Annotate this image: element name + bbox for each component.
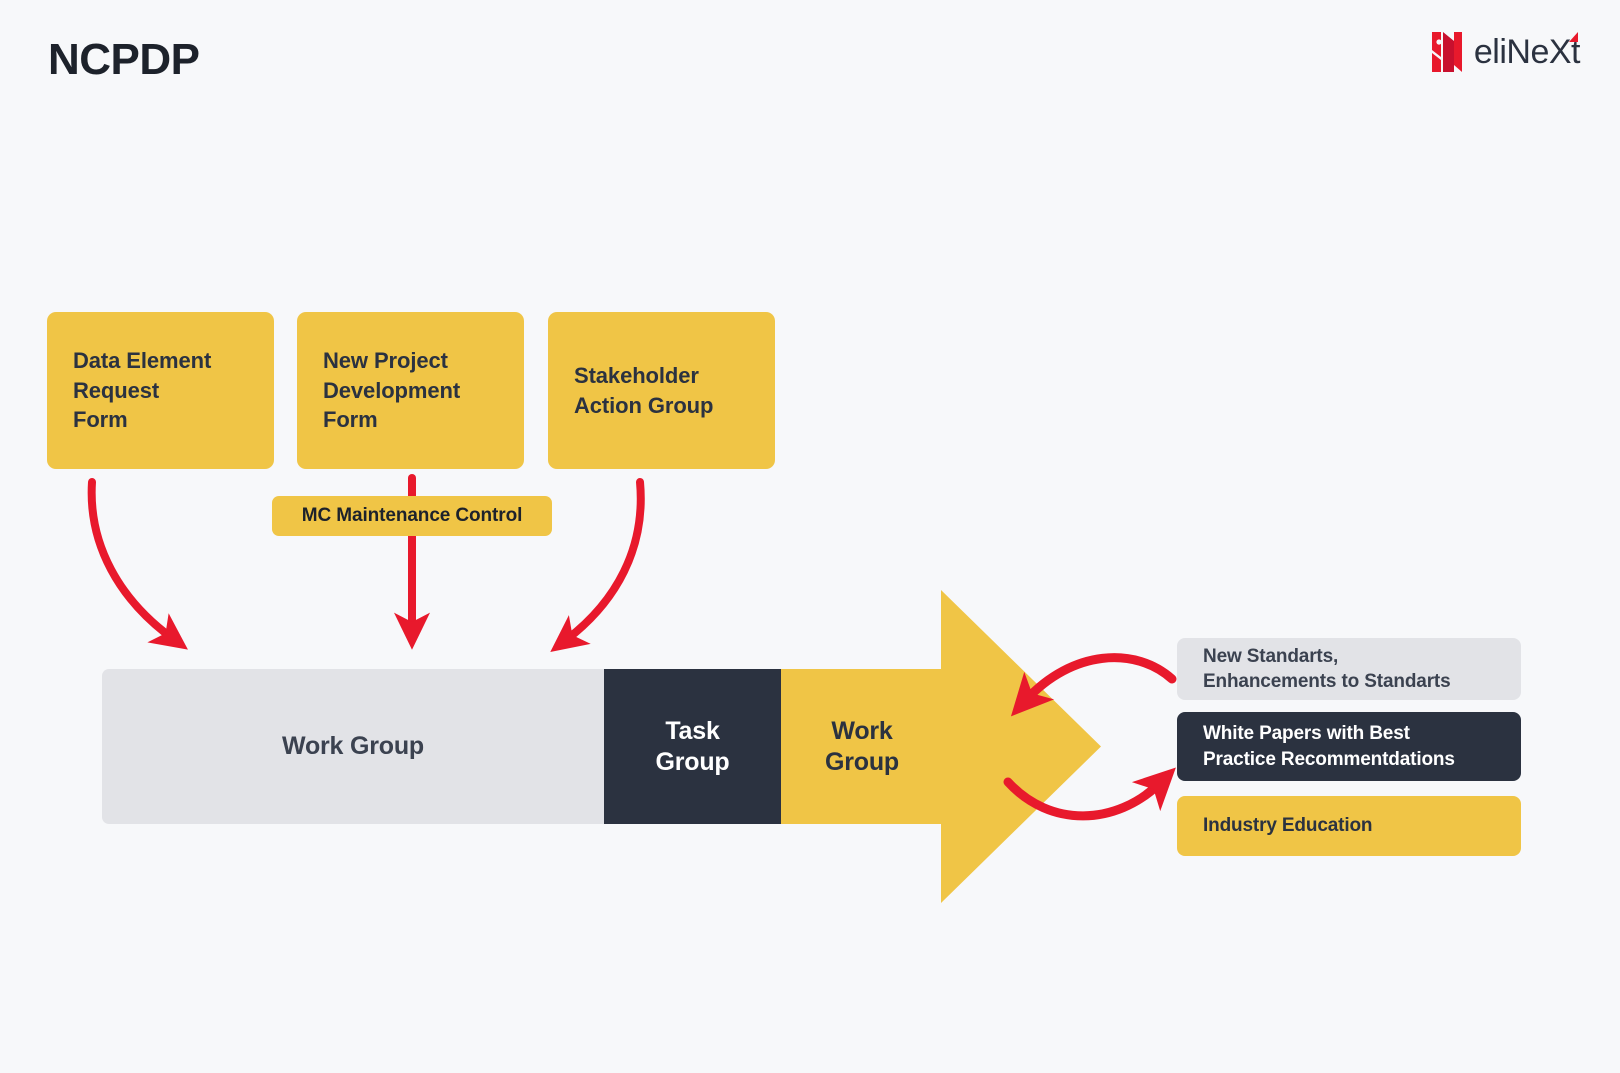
input-card-label: Data Element Request Form bbox=[73, 346, 211, 436]
elinext-wordmark: eliNeXt bbox=[1474, 35, 1580, 69]
connector-layer-back bbox=[0, 0, 1620, 1073]
pipeline-stage-work-group-2[interactable]: Work Group bbox=[781, 590, 1101, 903]
output-card-white-papers[interactable]: White Papers with Best Practice Recommen… bbox=[1177, 712, 1521, 781]
elinext-accent-flag-icon bbox=[1569, 32, 1578, 42]
elinext-logo: eliNeXt bbox=[1430, 28, 1580, 76]
output-card-label: New Standarts, Enhancements to Standarts bbox=[1203, 644, 1451, 695]
input-card-label: New Project Development Form bbox=[323, 346, 460, 436]
arrow-data-element-to-work-group bbox=[92, 482, 172, 638]
diagram-canvas: NCPDP eliNeXt Data Element Request For bbox=[0, 0, 1620, 1073]
input-card-label: Stakeholder Action Group bbox=[574, 361, 713, 421]
output-card-industry-education[interactable]: Industry Education bbox=[1177, 796, 1521, 856]
input-card-new-project-development-form[interactable]: New Project Development Form bbox=[297, 312, 524, 469]
pipeline-stage-label: Task Group bbox=[656, 716, 730, 777]
output-card-label: Industry Education bbox=[1203, 813, 1372, 838]
output-card-label: White Papers with Best Practice Recommen… bbox=[1203, 721, 1455, 772]
elinext-wordmark-text: eliNeXt bbox=[1474, 33, 1580, 71]
input-card-stakeholder-action-group[interactable]: Stakeholder Action Group bbox=[548, 312, 775, 469]
output-card-new-standards[interactable]: New Standarts, Enhancements to Standarts bbox=[1177, 638, 1521, 700]
connector-layer-front bbox=[0, 0, 1620, 1073]
pipeline-stage-task-group[interactable]: Task Group bbox=[604, 669, 781, 824]
pipeline-stage-label: Work Group bbox=[282, 731, 424, 762]
pipeline-stage-work-group-1[interactable]: Work Group bbox=[102, 669, 604, 824]
page-title: NCPDP bbox=[48, 38, 200, 82]
pipeline-stage-label: Work Group bbox=[825, 716, 899, 777]
mc-maintenance-control-pill[interactable]: MC Maintenance Control bbox=[272, 496, 552, 536]
input-card-data-element-request-form[interactable]: Data Element Request Form bbox=[47, 312, 274, 469]
arrow-stakeholder-to-work-group bbox=[566, 482, 641, 640]
mc-maintenance-control-label: MC Maintenance Control bbox=[302, 505, 523, 527]
elinext-n-mark-icon bbox=[1430, 29, 1464, 75]
